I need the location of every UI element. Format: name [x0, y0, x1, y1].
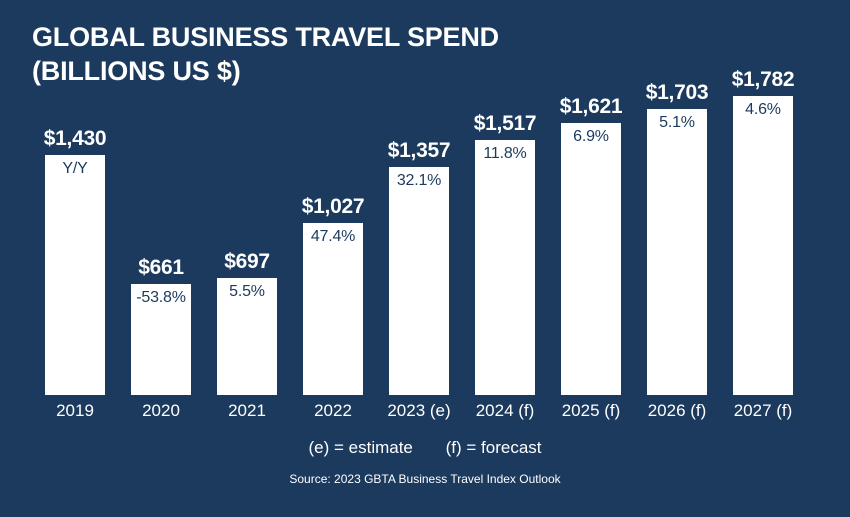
bar-change-label: 32.1%: [389, 172, 449, 190]
x-axis-label: 2020: [111, 401, 211, 421]
bar-value-label: $1,430: [31, 127, 119, 151]
bar-group: $6975.5%: [217, 0, 277, 395]
bar-group: $661-53.8%: [131, 0, 191, 395]
x-axis-label: 2022: [283, 401, 383, 421]
bar[interactable]: 4.6%: [733, 96, 793, 395]
bar-change-label: 11.8%: [475, 145, 535, 163]
x-axis-label: 2025 (f): [541, 401, 641, 421]
bar[interactable]: 5.1%: [647, 109, 707, 395]
bar-group: $1,7035.1%: [647, 0, 707, 395]
x-axis-label: 2024 (f): [455, 401, 555, 421]
bar-value-label: $1,517: [461, 112, 549, 136]
bar-value-label: $1,027: [289, 195, 377, 219]
bar[interactable]: 5.5%: [217, 278, 277, 395]
bar-group: $1,7824.6%: [733, 0, 793, 395]
source-note: Source: 2023 GBTA Business Travel Index …: [0, 472, 850, 486]
plot-area: $1,430Y/Y$661-53.8%$6975.5%$1,02747.4%$1…: [0, 0, 850, 395]
bar[interactable]: 32.1%: [389, 167, 449, 395]
bar-value-label: $697: [203, 250, 291, 274]
x-axis-label: 2021: [197, 401, 297, 421]
legend-entry-estimate: (e) = estimate: [308, 438, 412, 457]
bar-group: $1,6216.9%: [561, 0, 621, 395]
bar-value-label: $1,782: [719, 68, 807, 92]
bar-value-label: $661: [117, 256, 205, 280]
bar[interactable]: Y/Y: [45, 155, 105, 395]
x-axis-label: 2019: [25, 401, 125, 421]
bar[interactable]: 47.4%: [303, 223, 363, 395]
legend-entry-forecast: (f) = forecast: [446, 438, 542, 457]
chart-legend: (e) = estimate (f) = forecast: [0, 438, 850, 458]
bar-value-label: $1,703: [633, 81, 721, 105]
x-axis-label: 2027 (f): [713, 401, 813, 421]
bar-group: $1,35732.1%: [389, 0, 449, 395]
x-axis: 20192020202120222023 (e)2024 (f)2025 (f)…: [0, 401, 850, 427]
bar-value-label: $1,357: [375, 139, 463, 163]
chart-container: GLOBAL BUSINESS TRAVEL SPEND (BILLIONS U…: [0, 0, 850, 517]
bar-change-label: -53.8%: [131, 289, 191, 307]
bar-group: $1,51711.8%: [475, 0, 535, 395]
bar-change-label: 6.9%: [561, 128, 621, 146]
bar-change-label: 5.1%: [647, 114, 707, 132]
bar-change-label: Y/Y: [45, 160, 105, 178]
bar-change-label: 4.6%: [733, 101, 793, 119]
bar-group: $1,430Y/Y: [45, 0, 105, 395]
bar-change-label: 5.5%: [217, 283, 277, 301]
bar-group: $1,02747.4%: [303, 0, 363, 395]
bar[interactable]: -53.8%: [131, 284, 191, 395]
bar[interactable]: 6.9%: [561, 123, 621, 395]
x-axis-label: 2026 (f): [627, 401, 727, 421]
bar[interactable]: 11.8%: [475, 140, 535, 395]
bar-value-label: $1,621: [547, 95, 635, 119]
bar-change-label: 47.4%: [303, 228, 363, 246]
x-axis-label: 2023 (e): [369, 401, 469, 421]
